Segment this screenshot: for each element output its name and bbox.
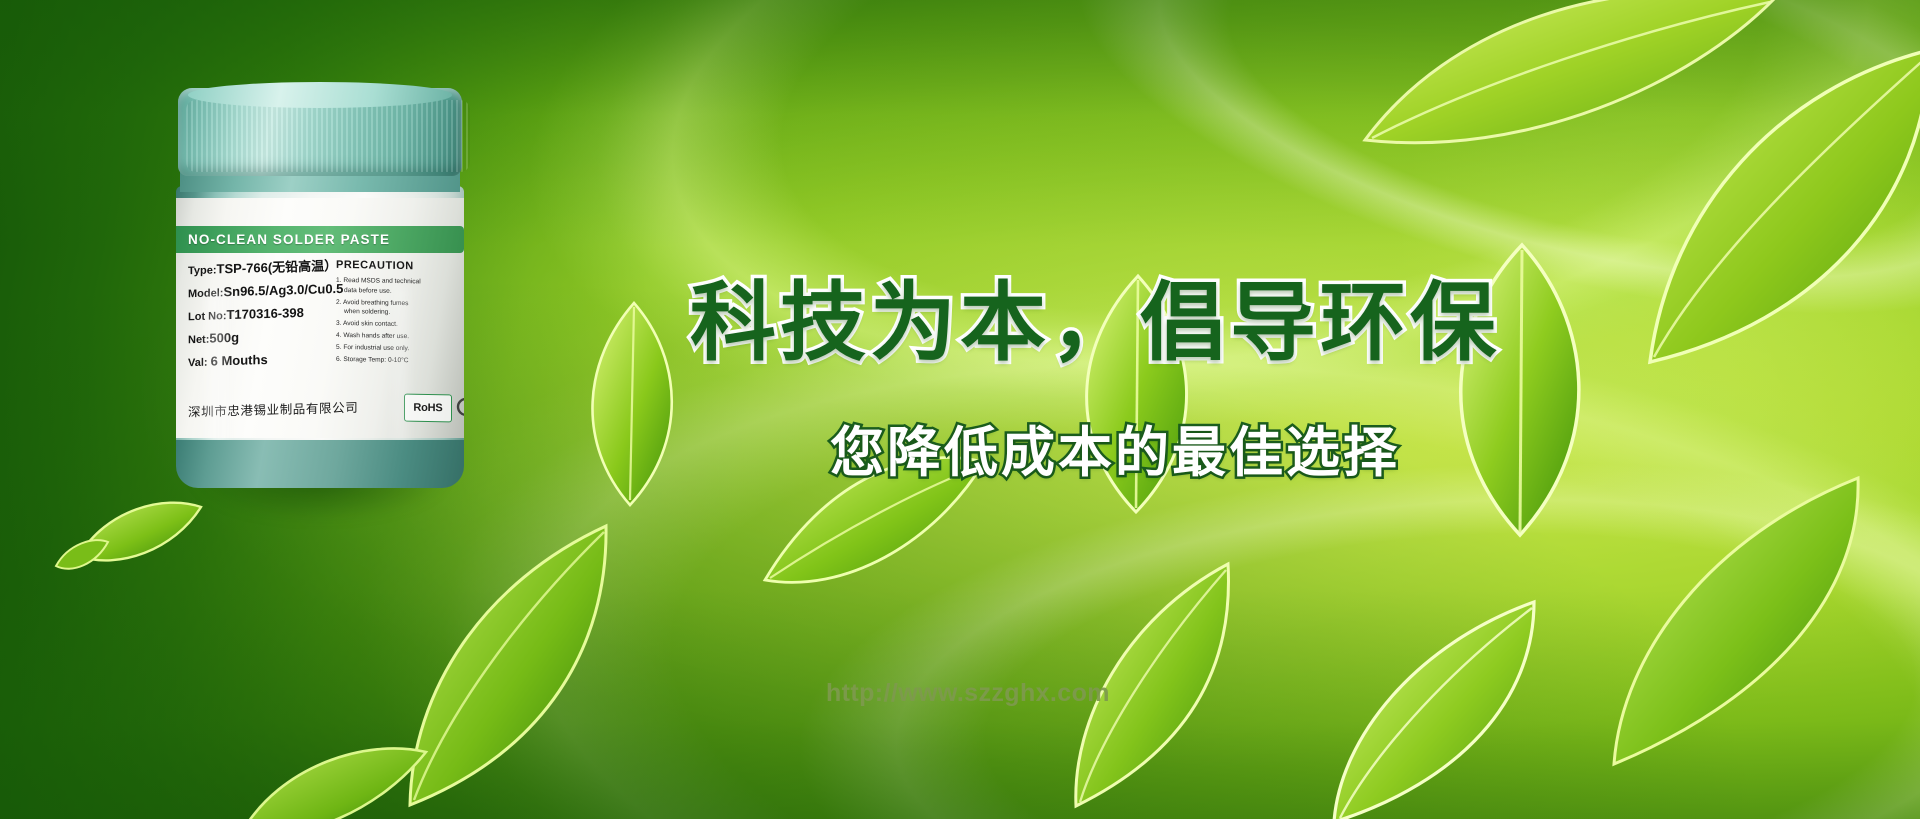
precaution-item: 2. Avoid breathing fumes when soldering. (336, 297, 464, 318)
precaution-item: 6. Storage Temp: 0-10°C (336, 355, 464, 367)
company-name: 深圳市忠港锡业制品有限公司 (188, 395, 438, 421)
jar-lid-top-surface (188, 82, 452, 108)
precaution-text: For industrial use only. (343, 344, 409, 352)
jar-lid-ribbing (186, 100, 470, 172)
precaution-text-cont: when soldering. (336, 307, 464, 319)
precaution-item: 3. Avoid skin contact. (336, 319, 464, 331)
rohs-badge-icon: RoHS (404, 394, 452, 423)
precaution-number: 6. (336, 356, 342, 363)
precaution-title: PRECAUTION (336, 259, 464, 273)
precaution-text: Read MSDS and technical (343, 277, 420, 285)
precaution-text-cont: data before use. (336, 285, 464, 297)
product-jar-image: NO-CLEAN SOLDER PASTE Type:TSP-766(无铅高温）… (170, 88, 470, 488)
precaution-number: 1. (336, 277, 342, 284)
label-title-text: NO-CLEAN SOLDER PASTE (176, 232, 390, 247)
spec-value: 6 Mouths (211, 352, 268, 369)
precaution-block: PRECAUTION 1. Read MSDS and technical da… (336, 259, 464, 370)
ce-mark-icon (456, 396, 464, 418)
precaution-number: 2. (336, 298, 342, 305)
spec-key: Model: (188, 287, 223, 300)
precaution-number: 3. (336, 320, 342, 327)
jar-base (176, 440, 464, 488)
spec-key: Val: (188, 357, 211, 370)
label-title-band: NO-CLEAN SOLDER PASTE (176, 226, 464, 253)
precaution-item: 1. Read MSDS and technical data before u… (336, 276, 464, 297)
product-label: NO-CLEAN SOLDER PASTE Type:TSP-766(无铅高温）… (176, 198, 464, 438)
rohs-label: RoHS (413, 402, 442, 415)
spec-key: Net: (188, 334, 209, 347)
precaution-item: 4. Wash hands after use. (336, 331, 464, 343)
spec-value: TSP-766(无铅高温） (217, 258, 338, 276)
precaution-text: Avoid breathing fumes (343, 299, 409, 307)
precaution-number: 4. (336, 332, 342, 339)
precaution-text: Storage Temp: 0-10°C (343, 356, 408, 364)
precaution-text: Wash hands after use. (343, 332, 409, 340)
jar-body: NO-CLEAN SOLDER PASTE Type:TSP-766(无铅高温）… (176, 186, 464, 482)
promotional-banner: NO-CLEAN SOLDER PASTE Type:TSP-766(无铅高温）… (0, 0, 1920, 819)
spec-value: T170316-398 (226, 305, 303, 322)
spec-key: Lot No: (188, 310, 226, 323)
precaution-item: 5. For industrial use only. (336, 343, 464, 355)
spec-value: Sn96.5/Ag3.0/Cu0.5 (223, 281, 343, 299)
precaution-text: Avoid skin contact. (343, 320, 398, 328)
spec-key: Type: (188, 264, 217, 277)
precaution-number: 5. (336, 344, 342, 351)
spec-value: 500g (209, 330, 239, 346)
